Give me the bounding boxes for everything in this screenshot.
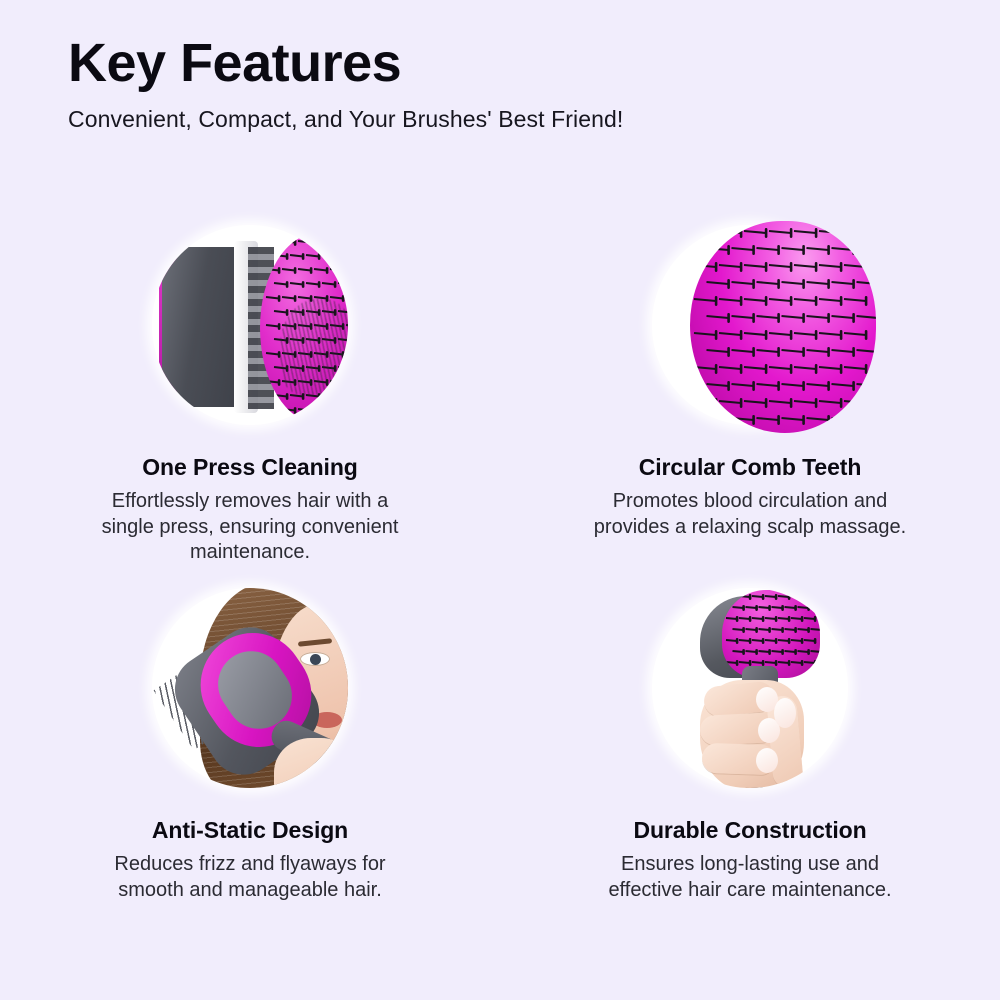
feature-title: Circular Comb Teeth [639,454,862,481]
feature-description: Promotes blood circulation and provides … [585,489,915,540]
feature-image-circular-comb-teeth [652,225,848,425]
page-title: Key Features [68,34,928,92]
bristle-layer [722,590,820,678]
feature-image-durable-construction [652,588,848,788]
feature-title: Durable Construction [633,817,866,844]
feature-card-durable-construction: Durable Construction Ensures long-lastin… [500,568,1000,931]
bristle-layer [690,221,876,433]
feature-image-anti-static-design [152,588,348,788]
feature-title: One Press Cleaning [142,454,358,481]
comb-teeth-closeup-illustration [652,225,848,425]
brush-front-illustration [152,225,348,425]
woman-brushing-hair-illustration [152,588,348,788]
feature-grid: One Press Cleaning Effortlessly removes … [0,205,1000,931]
key-features-page: { "header": { "title": "Key Features", "… [0,0,1000,1000]
feature-description: Reduces frizz and flyaways for smooth an… [85,852,415,903]
page-header: Key Features Convenient, Compact, and Yo… [68,34,928,134]
feature-description: Effortlessly removes hair with a single … [85,489,415,566]
feature-description: Ensures long-lasting use and effective h… [585,852,915,903]
feature-card-anti-static-design: Anti-Static Design Reduces frizz and fly… [0,568,500,931]
feature-card-circular-comb-teeth: Circular Comb Teeth Promotes blood circu… [500,205,1000,568]
feature-image-one-press-cleaning [152,225,348,425]
thumb-nail [774,698,796,728]
hand-holding-brush-illustration [652,588,848,788]
brush-head-bristles [722,590,820,678]
finger-nail [756,748,778,773]
feature-title: Anti-Static Design [152,817,348,844]
model-pupil [310,654,321,665]
collected-hair-strands [280,299,348,395]
page-subtitle: Convenient, Compact, and Your Brushes' B… [68,106,928,134]
feature-card-one-press-cleaning: One Press Cleaning Effortlessly removes … [0,205,500,568]
ball-tipped-bristle-field [690,221,876,433]
